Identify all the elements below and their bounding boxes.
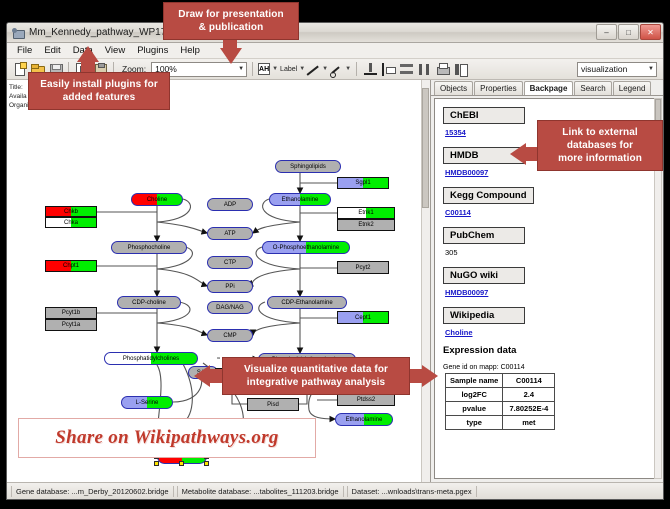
node-label: DAG/NAG <box>216 305 244 311</box>
node-label: Pcyt1a <box>62 322 80 328</box>
callout-plugins: Easily install plugins for added feature… <box>28 72 170 110</box>
node-label: Pcyt2 <box>355 265 370 271</box>
chevron-down-icon: ▼ <box>648 66 654 72</box>
share-banner-text: Share on Wikipathways.org <box>55 427 278 449</box>
row-label: Sample name <box>446 374 503 388</box>
text-tool-icon[interactable]: AH ▼ <box>258 62 278 77</box>
callout-draw: Draw for presentation & publication <box>163 2 299 40</box>
callout-link-line2: databases for <box>546 139 654 152</box>
node-label: CDP-Ethanolamine <box>281 300 332 306</box>
metabolite-node-l-serine-left[interactable]: L-Serine <box>121 396 173 409</box>
db-header-pubchem: PubChem <box>443 227 525 244</box>
callout-plugins-line2: added features <box>37 91 161 104</box>
close-button[interactable]: ✕ <box>640 24 661 40</box>
node-label: Chka <box>64 220 78 226</box>
gene-node-etnk1[interactable]: Etnk1 <box>337 207 395 219</box>
callout-visualize-arrow-right <box>422 365 438 387</box>
node-label: Chpt1 <box>63 263 79 269</box>
tab-search[interactable]: Search <box>574 81 611 95</box>
window-controls[interactable]: – □ ✕ <box>596 24 661 40</box>
node-label: PPi <box>225 284 234 290</box>
row-value: 2.4 <box>503 388 555 402</box>
pathway-metadata: Title: Availa Organi <box>9 83 29 110</box>
db-header-kegg: Kegg Compound <box>443 187 534 204</box>
node-label: CMP <box>223 333 236 339</box>
expression-gene-id: Gene id on mapp: C00114 <box>443 364 655 371</box>
node-label: Pcyt1b <box>62 310 80 316</box>
status-metabolite-database: Metabolite database: ...tabolites_111203… <box>177 486 344 497</box>
distribute-columns-icon[interactable] <box>416 61 432 77</box>
metabolite-node-cdp-choline[interactable]: CDP-choline <box>117 296 181 309</box>
node-label: Ethanolamine <box>346 417 383 423</box>
row-value: met <box>503 416 555 430</box>
meta-available-label: Availa <box>9 92 29 101</box>
metabolite-node-ppi[interactable]: PPi <box>207 280 253 293</box>
chevron-down-icon[interactable]: ▼ <box>345 66 351 72</box>
row-label: type <box>446 416 503 430</box>
toolbar-separator <box>356 62 357 76</box>
table-row: log2FC 2.4 <box>446 388 555 402</box>
gene-node-cept1[interactable]: Cept1 <box>337 311 389 324</box>
align-bottom-icon[interactable] <box>362 61 378 77</box>
gene-node-pisd[interactable]: Pisd <box>247 398 299 411</box>
table-row: pvalue 7.80252E-4 <box>446 402 555 416</box>
meta-organism-label: Organi <box>9 101 29 110</box>
db-link-kegg[interactable]: C00114 <box>445 208 655 217</box>
scrollbar-thumb[interactable] <box>422 88 429 208</box>
chevron-down-icon[interactable]: ▼ <box>322 66 328 72</box>
db-header-nugo: NuGO wiki <box>443 267 525 284</box>
gene-node-chka[interactable]: Chka <box>45 217 97 228</box>
expression-data-title: Expression data <box>443 345 655 356</box>
metabolite-node-phosphocholine[interactable]: Phosphocholine <box>111 241 187 254</box>
tab-objects[interactable]: Objects <box>434 81 473 95</box>
tab-legend[interactable]: Legend <box>613 81 652 95</box>
menu-help[interactable]: Help <box>174 43 206 58</box>
selection-handle[interactable] <box>179 461 184 466</box>
label-tool-dropdown[interactable]: Label ▼ <box>280 62 305 77</box>
info-tabstrip: Objects Properties Backpage Search Legen… <box>431 80 664 96</box>
align-left-icon[interactable] <box>380 61 396 77</box>
side-panel-icon[interactable] <box>452 61 468 77</box>
status-bar: Gene database: ...m_Derby_20120602.bridg… <box>7 482 664 499</box>
tab-backpage[interactable]: Backpage <box>524 81 574 95</box>
metabolite-node-phosphatidylcholines[interactable]: Phosphatidylcholines <box>104 352 198 365</box>
node-label: Pisd <box>267 402 279 408</box>
db-value-pubchem: 305 <box>445 248 655 257</box>
minimize-button[interactable]: – <box>596 24 617 40</box>
metabolite-node-o-phosphoethanolamine[interactable]: O-Phosphoethanolamine <box>262 241 350 254</box>
share-banner: Share on Wikipathways.org <box>18 418 316 458</box>
gene-node-etnk2[interactable]: Etnk2 <box>337 219 395 231</box>
gene-node-pcyt1b[interactable]: Pcyt1b <box>45 307 97 319</box>
visualization-value: visualization <box>581 64 627 74</box>
row-label: log2FC <box>446 388 503 402</box>
application-icon <box>12 27 24 39</box>
row-label: pvalue <box>446 402 503 416</box>
canvas-vertical-scrollbar[interactable] <box>421 80 430 484</box>
node-label: Etnk1 <box>358 210 373 216</box>
db-header-chebi: ChEBI <box>443 107 525 124</box>
node-label: Choline <box>147 197 167 203</box>
node-label: Chkb <box>64 209 78 215</box>
callout-link-line3: more information <box>546 152 654 165</box>
callout-link-line1: Link to external <box>546 126 654 139</box>
gene-node-pcyt2[interactable]: Pcyt2 <box>337 261 389 274</box>
metabolite-node-ethanolamine-top[interactable]: Ethanolamine <box>269 193 331 206</box>
text-tool-glyph: AH <box>258 63 270 75</box>
gene-node-pcyt1a[interactable]: Pcyt1a <box>45 319 97 331</box>
status-gene-database: Gene database: ...m_Derby_20120602.bridg… <box>11 486 174 497</box>
node-label: Etnk2 <box>358 222 373 228</box>
callout-plugins-line1: Easily install plugins for <box>37 78 161 91</box>
gene-node-chpt1[interactable]: Chpt1 <box>45 260 97 272</box>
chevron-down-icon: ▼ <box>238 66 244 72</box>
menu-bar: File Edit Data View Plugins Help <box>7 43 663 59</box>
metabolite-node-dag-nag[interactable]: DAG/NAG <box>207 301 253 314</box>
node-label: Ethanolamine <box>282 197 319 203</box>
menu-edit[interactable]: Edit <box>38 43 66 58</box>
menu-file[interactable]: File <box>11 43 38 58</box>
node-label: ATP <box>224 231 235 237</box>
metabolite-node-atp[interactable]: ATP <box>207 227 253 240</box>
metabolite-node-adp[interactable]: ADP <box>207 198 253 211</box>
line-tool-icon[interactable]: ▼ <box>307 62 328 77</box>
db-link-wikipedia[interactable]: Choline <box>445 328 655 337</box>
node-label: Phosphocholine <box>128 245 171 251</box>
callout-draw-line2: & publication <box>172 21 290 34</box>
node-label: Cept1 <box>355 315 371 321</box>
metabolite-node-choline-top[interactable]: Choline <box>131 193 183 206</box>
title-bar: Mm_Kennedy_pathway_WP1771_45176.gpml – □… <box>7 23 663 43</box>
row-value: 7.80252E-4 <box>503 402 555 416</box>
callout-visualize-line1: Visualize quantitative data for <box>231 363 401 376</box>
maximize-button[interactable]: □ <box>618 24 639 40</box>
metabolite-node-ethanolamine-bottom[interactable]: Ethanolamine <box>335 413 393 426</box>
callout-draw-line1: Draw for presentation <box>172 8 290 21</box>
node-label: CTP <box>224 260 236 266</box>
label-tool-label: Label <box>280 66 297 73</box>
callout-draw-arrow <box>220 48 242 64</box>
chevron-down-icon[interactable]: ▼ <box>299 66 305 72</box>
expression-data-table: Sample name C00114 log2FC 2.4 pvalue 7.8… <box>445 373 555 430</box>
metabolite-node-ctp[interactable]: CTP <box>207 256 253 269</box>
table-row: type met <box>446 416 555 430</box>
callout-link-arrow <box>510 143 526 165</box>
callout-plugins-arrow <box>77 46 99 62</box>
node-label: L-Serine <box>136 400 159 406</box>
callout-visualize-line2: integrative pathway analysis <box>231 376 401 389</box>
metabolite-node-sphingolipids[interactable]: Sphingolipids <box>275 160 341 173</box>
callout-visualize: Visualize quantitative data for integrat… <box>222 357 410 395</box>
selection-handle[interactable] <box>154 461 159 466</box>
stack-vertical-icon[interactable] <box>398 61 414 77</box>
visualization-combobox[interactable]: visualization ▼ <box>577 62 657 77</box>
new-file-icon[interactable] <box>11 61 27 77</box>
selection-handle[interactable] <box>204 461 209 466</box>
callout-visualize-arrow <box>194 365 210 387</box>
gene-node-chkb[interactable]: Chkb <box>45 206 97 217</box>
metabolite-node-cmp[interactable]: CMP <box>207 329 253 342</box>
node-label: Sphingolipids <box>290 164 326 170</box>
db-header-wikipedia: Wikipedia <box>443 307 525 324</box>
toolbar-separator <box>252 62 253 76</box>
node-label: Ptdss2 <box>357 397 375 403</box>
callout-link: Link to external databases for more info… <box>537 120 663 171</box>
db-link-nugo[interactable]: HMDB00097 <box>445 288 655 297</box>
node-label: CDP-choline <box>132 300 166 306</box>
menu-plugins[interactable]: Plugins <box>131 43 174 58</box>
meta-title-label: Title: <box>9 83 29 92</box>
metabolite-node-cdp-ethanolamine[interactable]: CDP-Ethanolamine <box>267 296 347 309</box>
anchor-tool-icon[interactable]: ▼ <box>330 62 351 77</box>
print-icon[interactable] <box>434 61 450 77</box>
tab-properties[interactable]: Properties <box>474 81 522 95</box>
table-row: Sample name C00114 <box>446 374 555 388</box>
node-label: O-Phosphoethanolamine <box>273 245 339 251</box>
node-label: Phosphatidylcholines <box>123 356 179 362</box>
menu-view[interactable]: View <box>99 43 131 58</box>
status-dataset: Dataset: ...wnloads\trans-meta.pgex <box>347 486 477 497</box>
chevron-down-icon[interactable]: ▼ <box>272 66 278 72</box>
node-label: Sgpl1 <box>355 180 370 186</box>
gene-node-ptdss2[interactable]: Ptdss2 <box>337 394 395 406</box>
row-value: C00114 <box>503 374 555 388</box>
gene-node-sgpl1[interactable]: Sgpl1 <box>337 177 389 189</box>
node-label: ADP <box>224 202 236 208</box>
